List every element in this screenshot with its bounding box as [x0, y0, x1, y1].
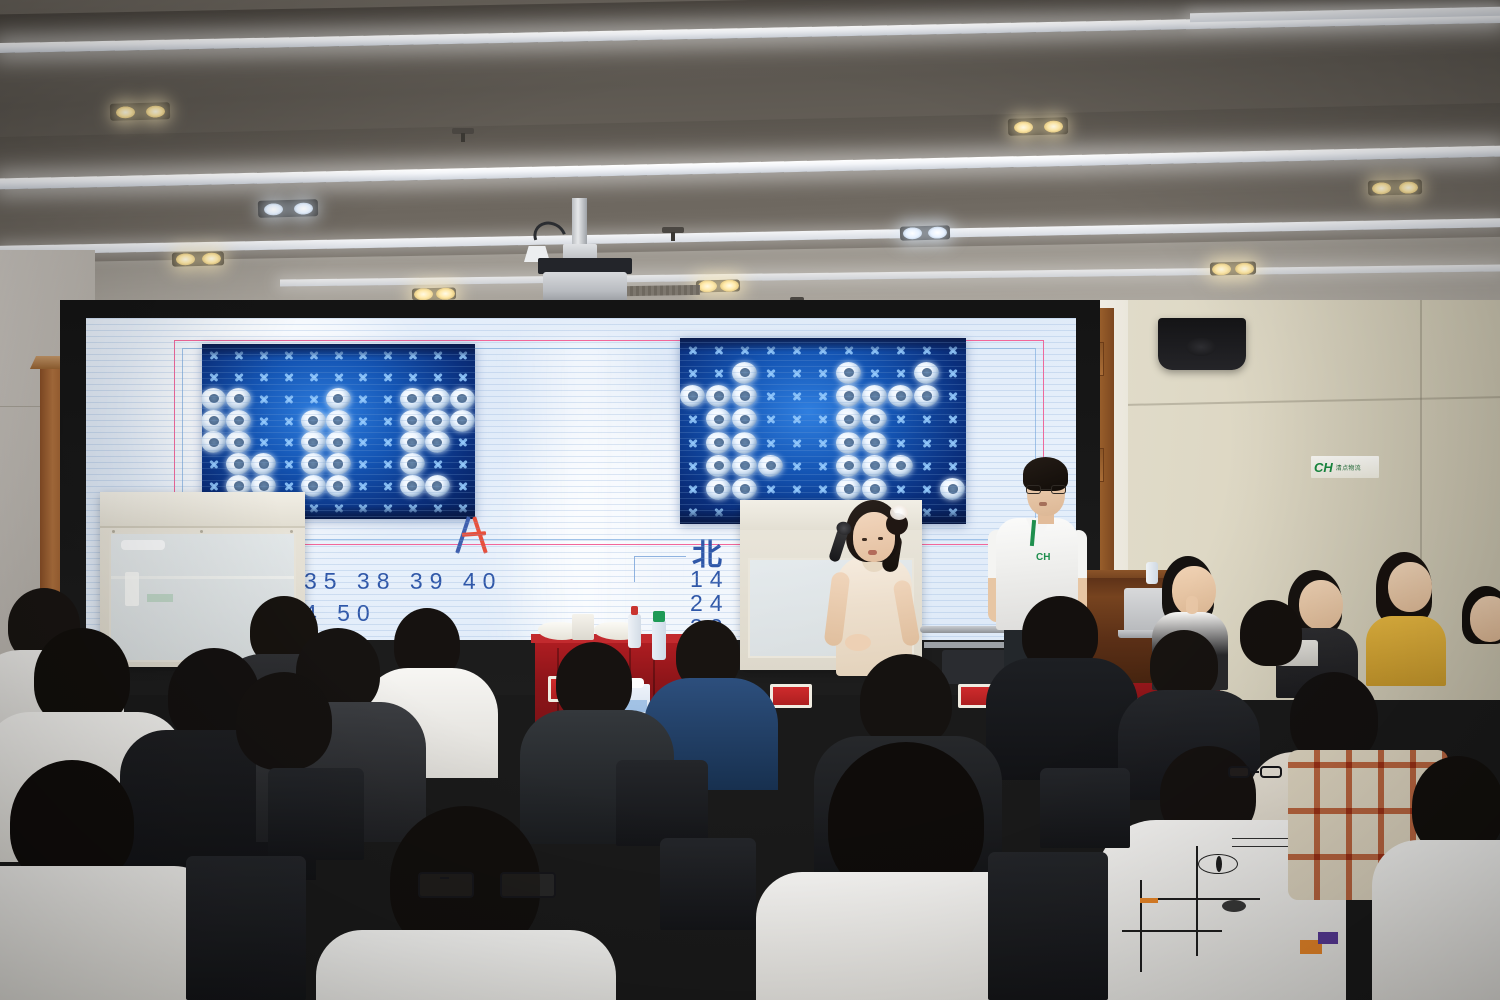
ceiling-spot-2	[258, 199, 318, 218]
chair-3	[660, 838, 756, 930]
chair-5	[186, 856, 306, 1000]
ceiling	[0, 0, 1500, 330]
ceiling-spot-1	[110, 102, 170, 121]
ceiling-spot-7	[1210, 261, 1256, 275]
sprinkler-1	[452, 128, 474, 134]
sprinkler-2	[662, 227, 684, 233]
company-name-label: 清点物流	[1336, 463, 1361, 472]
projector-mount-rod	[572, 198, 587, 246]
wall-logo-sign: CH 清点物流	[1311, 456, 1379, 478]
screenshot-root: CH 清点物流 SOP 31 32 35	[0, 0, 1500, 1000]
ceiling-spot-3	[172, 251, 224, 266]
chair-6	[988, 852, 1108, 1000]
table-item-bottle	[628, 614, 641, 648]
table-item-box	[572, 614, 594, 640]
eyeglasses-icon	[418, 872, 556, 898]
name-placard-right[interactable]	[770, 684, 812, 708]
eyeglasses-icon	[1026, 485, 1066, 494]
chair-4	[1040, 768, 1130, 848]
ceiling-spot-4	[1008, 117, 1068, 136]
water-bottle	[1146, 562, 1158, 584]
polo-logo-icon: CH	[1036, 552, 1058, 564]
ceiling-spot-6	[1368, 179, 1422, 195]
table-item-spray-bottle	[652, 620, 666, 660]
ceiling-spot-8	[696, 279, 740, 292]
chair-2	[616, 760, 708, 846]
eyeglasses-icon	[1228, 766, 1282, 778]
ceiling-spot-5	[900, 225, 950, 240]
ceiling-speaker	[1158, 318, 1246, 370]
ceiling-spot-9	[412, 287, 456, 300]
chair-1	[268, 768, 364, 860]
company-logo-icon: CH	[1314, 461, 1333, 474]
